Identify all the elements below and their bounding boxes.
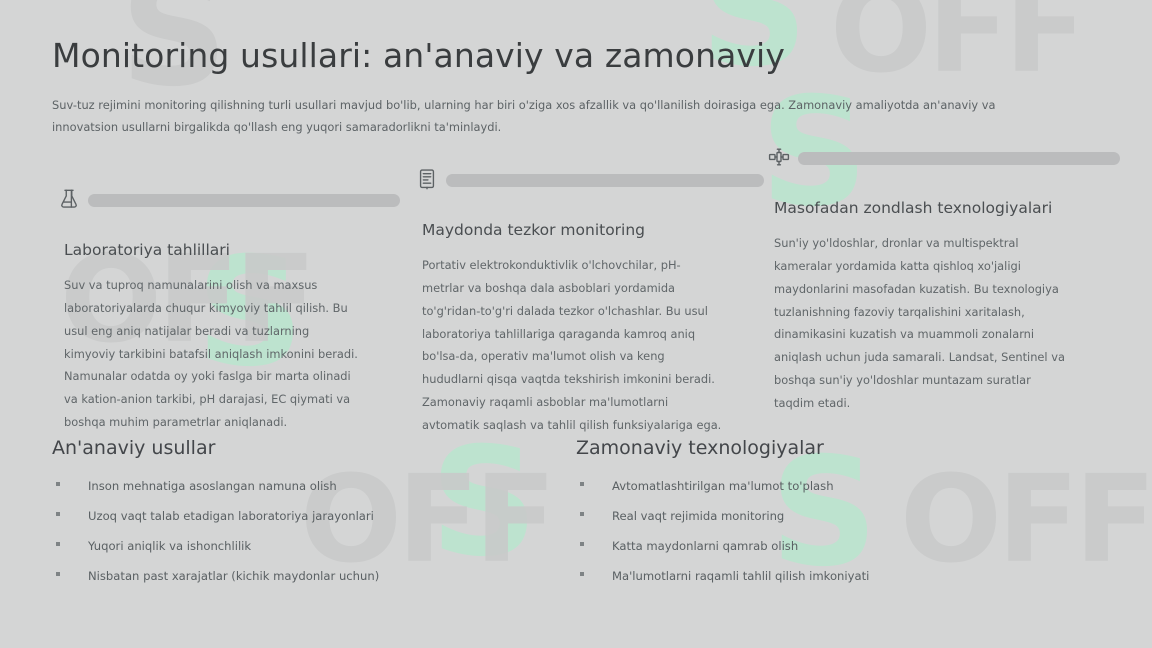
comparison-list: Avtomatlashtirilgan ma'lumot to'plash Re… — [576, 479, 1100, 585]
card-body: Suv va tuproq namunalarini olish va maxs… — [64, 274, 364, 434]
list-item-label: Real vaqt rejimida monitoring — [612, 509, 784, 523]
rail-bar — [88, 194, 400, 207]
card-heading: Laboratoriya tahlillari — [64, 240, 364, 260]
bullet-icon — [56, 572, 60, 576]
rail-bar — [798, 152, 1120, 165]
card-rail — [410, 174, 722, 188]
bullet-icon — [56, 542, 60, 546]
list-item: Real vaqt rejimida monitoring — [576, 509, 1100, 525]
bullet-icon — [580, 572, 584, 576]
card-heading: Maydonda tezkor monitoring — [422, 220, 722, 240]
method-card-remote-sensing[interactable]: Masofadan zondlash texnologiyalari Sun'i… — [762, 152, 1074, 415]
list-item-label: Nisbatan past xarajatlar (kichik maydonl… — [88, 569, 379, 583]
method-card-laboratory[interactable]: Laboratoriya tahlillari Suv va tuproq na… — [52, 194, 364, 434]
rail-bar — [446, 174, 764, 187]
comparison-column-modern: Zamonaviy texnologiyalar Avtomatlashtiri… — [576, 436, 1100, 599]
list-item: Yuqori aniqlik va ishonchlilik — [52, 539, 576, 555]
list-item: Avtomatlashtirilgan ma'lumot to'plash — [576, 479, 1100, 495]
list-item: Katta maydonlarni qamrab olish — [576, 539, 1100, 555]
card-heading: Masofadan zondlash texnologiyalari — [774, 198, 1074, 218]
comparison-heading: An'anaviy usullar — [52, 436, 576, 461]
page-title: Monitoring usullari: an'anaviy va zamona… — [52, 0, 1100, 76]
field-meter-icon — [410, 162, 444, 196]
bullet-icon — [56, 482, 60, 486]
list-item-label: Ma'lumotlarni raqamli tahlil qilish imko… — [612, 569, 869, 583]
bullet-icon — [580, 512, 584, 516]
list-item-label: Katta maydonlarni qamrab olish — [612, 539, 798, 553]
card-rail — [762, 152, 1074, 166]
method-cards: Laboratoriya tahlillari Suv va tuproq na… — [52, 152, 1100, 422]
list-item-label: Avtomatlashtirilgan ma'lumot to'plash — [612, 479, 834, 493]
list-item: Ma'lumotlarni raqamli tahlil qilish imko… — [576, 569, 1100, 585]
method-card-field-monitoring[interactable]: Maydonda tezkor monitoring Portativ elek… — [410, 174, 722, 437]
comparison-heading: Zamonaviy texnologiyalar — [576, 436, 1100, 461]
comparison-list: Inson mehnatiga asoslangan namuna olish … — [52, 479, 576, 585]
list-item-label: Inson mehnatiga asoslangan namuna olish — [88, 479, 337, 493]
list-item: Inson mehnatiga asoslangan namuna olish — [52, 479, 576, 495]
flask-icon — [52, 182, 86, 216]
comparison-section: An'anaviy usullar Inson mehnatiga asosla… — [52, 436, 1100, 599]
bullet-icon — [56, 512, 60, 516]
bullet-icon — [580, 542, 584, 546]
list-item-label: Uzoq vaqt talab etadigan laboratoriya ja… — [88, 509, 374, 523]
list-item: Nisbatan past xarajatlar (kichik maydonl… — [52, 569, 576, 585]
list-item: Uzoq vaqt talab etadigan laboratoriya ja… — [52, 509, 576, 525]
list-item-label: Yuqori aniqlik va ishonchlilik — [88, 539, 251, 553]
satellite-icon — [762, 140, 796, 174]
card-rail — [52, 194, 364, 208]
card-body: Sun'iy yo'ldoshlar, dronlar va multispek… — [774, 232, 1074, 415]
bullet-icon — [580, 482, 584, 486]
comparison-column-traditional: An'anaviy usullar Inson mehnatiga asosla… — [52, 436, 576, 599]
intro-paragraph: Suv-tuz rejimini monitoring qilishning t… — [52, 94, 1057, 138]
card-body: Portativ elektrokonduktivlik o'lchovchil… — [422, 254, 722, 437]
slide-root: Monitoring usullari: an'anaviy va zamona… — [0, 0, 1152, 648]
